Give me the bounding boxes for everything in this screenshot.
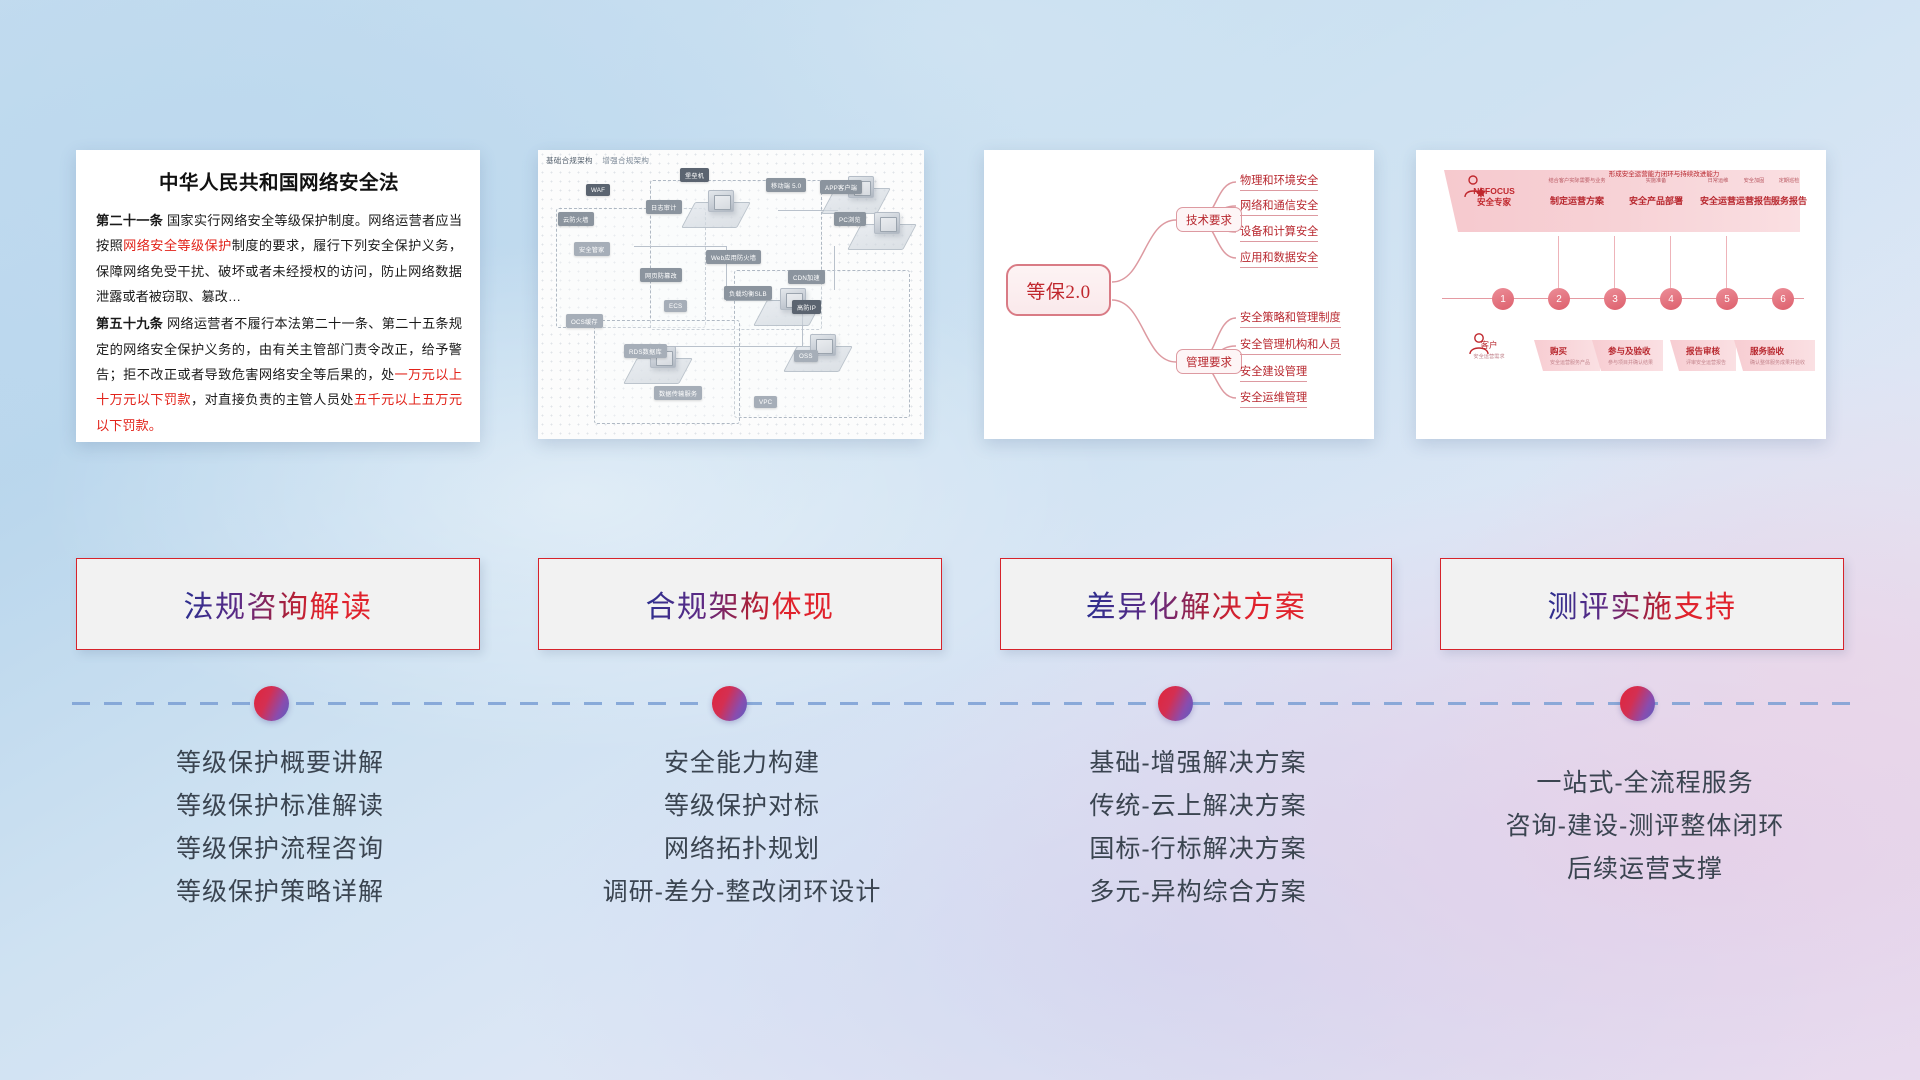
list-item: 后续运营支撑	[1440, 848, 1850, 891]
mindmap-leaf: 安全运维管理	[1240, 389, 1307, 408]
mindmap-branch-management: 管理要求	[1176, 349, 1242, 374]
nsfocus-tag: 购买 安全运营服务产品	[1534, 340, 1600, 371]
list-item: 等级保护流程咨询	[100, 828, 460, 871]
banner-step: 定期巡检 服务报告	[1762, 177, 1816, 207]
section-title-text: 合规架构体现	[646, 582, 835, 626]
timeline-tick	[1614, 236, 1615, 288]
article-21-highlight: 网络安全等级保护	[123, 238, 232, 253]
arch-header-right: 增强合规架构	[602, 156, 649, 165]
arch-connector	[834, 246, 835, 290]
section-title-text: 测评实施支持	[1548, 582, 1737, 626]
timeline-node: 1	[1492, 288, 1514, 310]
section-title-compliance-architecture[interactable]: 合规架构体现	[538, 558, 942, 650]
process-node-1[interactable]	[254, 686, 289, 721]
detail-list-4: 一站式-全流程服务 咨询-建设-测评整体闭环 后续运营支撑	[1440, 762, 1850, 891]
banner-step: 结合客户实际需要与业务 制定运营方案	[1536, 177, 1618, 207]
poster-stage: 中华人民共和国网络安全法 第二十一条 国家实行网络安全等级保护制度。网络运营者应…	[0, 0, 1920, 1080]
arch-server-icon	[874, 212, 900, 234]
nsfocus-canvas: NSFOCUS 安全专家 结合客户实际需要与业务 制定运营方案 实施准备 安全产…	[1416, 150, 1826, 439]
timeline-node: 4	[1660, 288, 1682, 310]
section-title-differentiated-solution[interactable]: 差异化解决方案	[1000, 558, 1392, 650]
nsfocus-brand: NSFOCUS	[1460, 186, 1528, 197]
arch-node-chip: PC浏览	[834, 212, 866, 226]
card-mindmap: 等保2.0 技术要求 管理要求 物理和环境安全 网络和通信安全 设备和计算安全 …	[984, 150, 1374, 439]
mindmap-leaf: 设备和计算安全	[1240, 223, 1318, 242]
section-title-regulation-consulting[interactable]: 法规咨询解读	[76, 558, 480, 650]
list-item: 安全能力构建	[562, 742, 922, 785]
banner-step-top: 实施准备	[1620, 177, 1692, 184]
law-title: 中华人民共和国网络安全法	[96, 166, 462, 195]
mindmap-canvas: 等保2.0 技术要求 管理要求 物理和环境安全 网络和通信安全 设备和计算安全 …	[984, 150, 1374, 439]
process-node-2[interactable]	[712, 686, 747, 721]
timeline-tick	[1670, 236, 1671, 288]
law-article-59: 第五十九条 网络运营者不履行本法第二十一条、第二十五条规定的网络安全保护义务的，…	[96, 311, 462, 438]
arch-node-chip: 网页防篡改	[640, 268, 682, 282]
arch-node-chip: 云防火墙	[558, 212, 594, 226]
card-architecture-diagram: 基础合规架构 增强合规架构	[538, 150, 924, 439]
nsfocus-tag-sub: 安全运营服务产品	[1550, 359, 1590, 366]
law-article-21: 第二十一条 国家实行网络安全等级保护制度。网络运营者应当按照网络安全等级保护制度…	[96, 208, 462, 309]
arch-node-chip: CDN加速	[788, 270, 825, 284]
process-dashed-axis	[72, 702, 1850, 705]
architecture-canvas: 基础合规架构 增强合规架构	[538, 150, 924, 439]
card-nsfocus-timeline: NSFOCUS 安全专家 结合客户实际需要与业务 制定运营方案 实施准备 安全产…	[1416, 150, 1826, 439]
nsfocus-tag-title: 服务验收	[1750, 345, 1805, 357]
arch-node-chip: OSS	[794, 350, 818, 362]
list-item: 网络拓扑规划	[562, 828, 922, 871]
arch-node-chip: OCS缓存	[566, 314, 603, 328]
arch-node-chip: 堡垒机	[680, 168, 709, 182]
arch-header-left: 基础合规架构	[546, 156, 593, 165]
timeline-node: 3	[1604, 288, 1626, 310]
list-item: 基础-增强解决方案	[1018, 742, 1378, 785]
customer-label: 客户	[1452, 339, 1526, 351]
process-node-4[interactable]	[1620, 686, 1655, 721]
list-item: 等级保护概要讲解	[100, 742, 460, 785]
list-item: 等级保护对标	[562, 785, 922, 828]
customer-persona: 客户 安全运营需求	[1452, 336, 1526, 360]
list-item: 传统-云上解决方案	[1018, 785, 1378, 828]
nsfocus-tag-title: 购买	[1550, 345, 1590, 357]
banner-closure-note: 形成安全运营能力闭环与持续改进能力	[1604, 168, 1724, 178]
arch-node-chip: APP客户端	[820, 180, 862, 194]
mindmap-leaf: 安全管理机构和人员	[1240, 336, 1341, 355]
list-item: 等级保护标准解读	[100, 785, 460, 828]
nsfocus-tag: 服务验收 确认整体服务成果并验收	[1734, 340, 1815, 371]
section-title-text: 法规咨询解读	[184, 582, 373, 626]
list-item: 咨询-建设-测评整体闭环	[1440, 805, 1850, 848]
banner-step-top: 结合客户实际需要与业务	[1536, 177, 1618, 184]
section-title-row: 法规咨询解读 合规架构体现 差异化解决方案 测评实施支持	[0, 558, 1920, 650]
mindmap-leaf: 应用和数据安全	[1240, 249, 1318, 268]
banner-step-top: 定期巡检	[1762, 177, 1816, 184]
detail-list-2: 安全能力构建 等级保护对标 网络拓扑规划 调研-差分-整改闭环设计	[562, 742, 922, 914]
arch-node-chip: 负载均衡SLB	[724, 286, 772, 300]
article-59-mid: ，对直接负责的主管人员处	[191, 392, 354, 407]
architecture-header: 基础合规架构 增强合规架构	[546, 155, 649, 166]
arch-node-chip: 移动端 5.0	[766, 178, 806, 192]
list-item: 国标-行标解决方案	[1018, 828, 1378, 871]
card-law-document: 中华人民共和国网络安全法 第二十一条 国家实行网络安全等级保护制度。网络运营者应…	[76, 150, 480, 442]
arch-node-chip: RDS数据库	[624, 344, 667, 358]
timeline-node: 6	[1772, 288, 1794, 310]
detail-list-1: 等级保护概要讲解 等级保护标准解读 等级保护流程咨询 等级保护策略详解	[100, 742, 460, 914]
list-item: 调研-差分-整改闭环设计	[562, 871, 922, 914]
banner-step-main: 服务报告	[1762, 194, 1816, 207]
nsfocus-tag: 报告审核 评审安全运营报告	[1670, 340, 1736, 371]
arch-node-chip: 高防IP	[792, 300, 821, 314]
nsfocus-tag-sub: 评审安全运营报告	[1686, 359, 1726, 366]
arch-node-chip: VPC	[754, 396, 777, 408]
arch-connector	[658, 346, 802, 347]
arch-node-chip: WAF	[586, 184, 610, 196]
nsfocus-tag-title: 参与及验收	[1608, 345, 1653, 357]
mindmap-leaf: 网络和通信安全	[1240, 197, 1318, 216]
mindmap-leaf: 安全建设管理	[1240, 363, 1307, 382]
list-item: 等级保护策略详解	[100, 871, 460, 914]
detail-list-3: 基础-增强解决方案 传统-云上解决方案 国标-行标解决方案 多元-异构综合方案	[1018, 742, 1378, 914]
banner-step: 实施准备 安全产品部署	[1620, 177, 1692, 207]
list-item: 一站式-全流程服务	[1440, 762, 1850, 805]
arch-node-chip: 安全管家	[574, 242, 610, 256]
list-item: 多元-异构综合方案	[1018, 871, 1378, 914]
mindmap-leaf: 安全策略和管理制度	[1240, 309, 1341, 328]
arch-node-chip: 数据传输服务	[654, 386, 702, 400]
timeline-tick	[1558, 236, 1559, 288]
arch-connector	[634, 246, 726, 247]
nsfocus-tag-sub: 确认整体服务成果并验收	[1750, 359, 1805, 366]
arch-node-chip: 日志审计	[646, 200, 682, 214]
arch-node-chip: Web应用防火墙	[706, 250, 761, 264]
timeline-node: 2	[1548, 288, 1570, 310]
nsfocus-tag: 参与及验收 参与项目并确认结果	[1592, 340, 1663, 371]
customer-sub: 安全运营需求	[1452, 353, 1526, 360]
timeline-node: 5	[1716, 288, 1738, 310]
mindmap-branch-technical: 技术要求	[1176, 207, 1242, 232]
process-node-3[interactable]	[1158, 686, 1193, 721]
timeline-tick	[1726, 236, 1727, 288]
arch-node-chip: ECS	[664, 300, 687, 312]
banner-step-main: 制定运营方案	[1536, 194, 1618, 207]
section-title-text: 差异化解决方案	[1086, 582, 1307, 626]
law-text-block: 中华人民共和国网络安全法 第二十一条 国家实行网络安全等级保护制度。网络运营者应…	[76, 150, 480, 442]
nsfocus-tag-title: 报告审核	[1686, 345, 1726, 357]
section-title-assessment-support[interactable]: 测评实施支持	[1440, 558, 1844, 650]
image-card-row: 中华人民共和国网络安全法 第二十一条 国家实行网络安全等级保护制度。网络运营者应…	[0, 150, 1920, 450]
article-21-label: 第二十一条	[96, 213, 163, 228]
mindmap-leaf: 物理和环境安全	[1240, 172, 1318, 191]
nsfocus-brand-block: NSFOCUS 安全专家	[1460, 186, 1528, 209]
nsfocus-brand-sub: 安全专家	[1460, 197, 1528, 208]
banner-step-main: 安全产品部署	[1620, 194, 1692, 207]
mindmap-root-node: 等保2.0	[1006, 264, 1111, 316]
nsfocus-tag-sub: 参与项目并确认结果	[1608, 359, 1653, 366]
arch-server-icon	[708, 190, 734, 212]
article-59-label: 第五十九条	[96, 316, 163, 331]
